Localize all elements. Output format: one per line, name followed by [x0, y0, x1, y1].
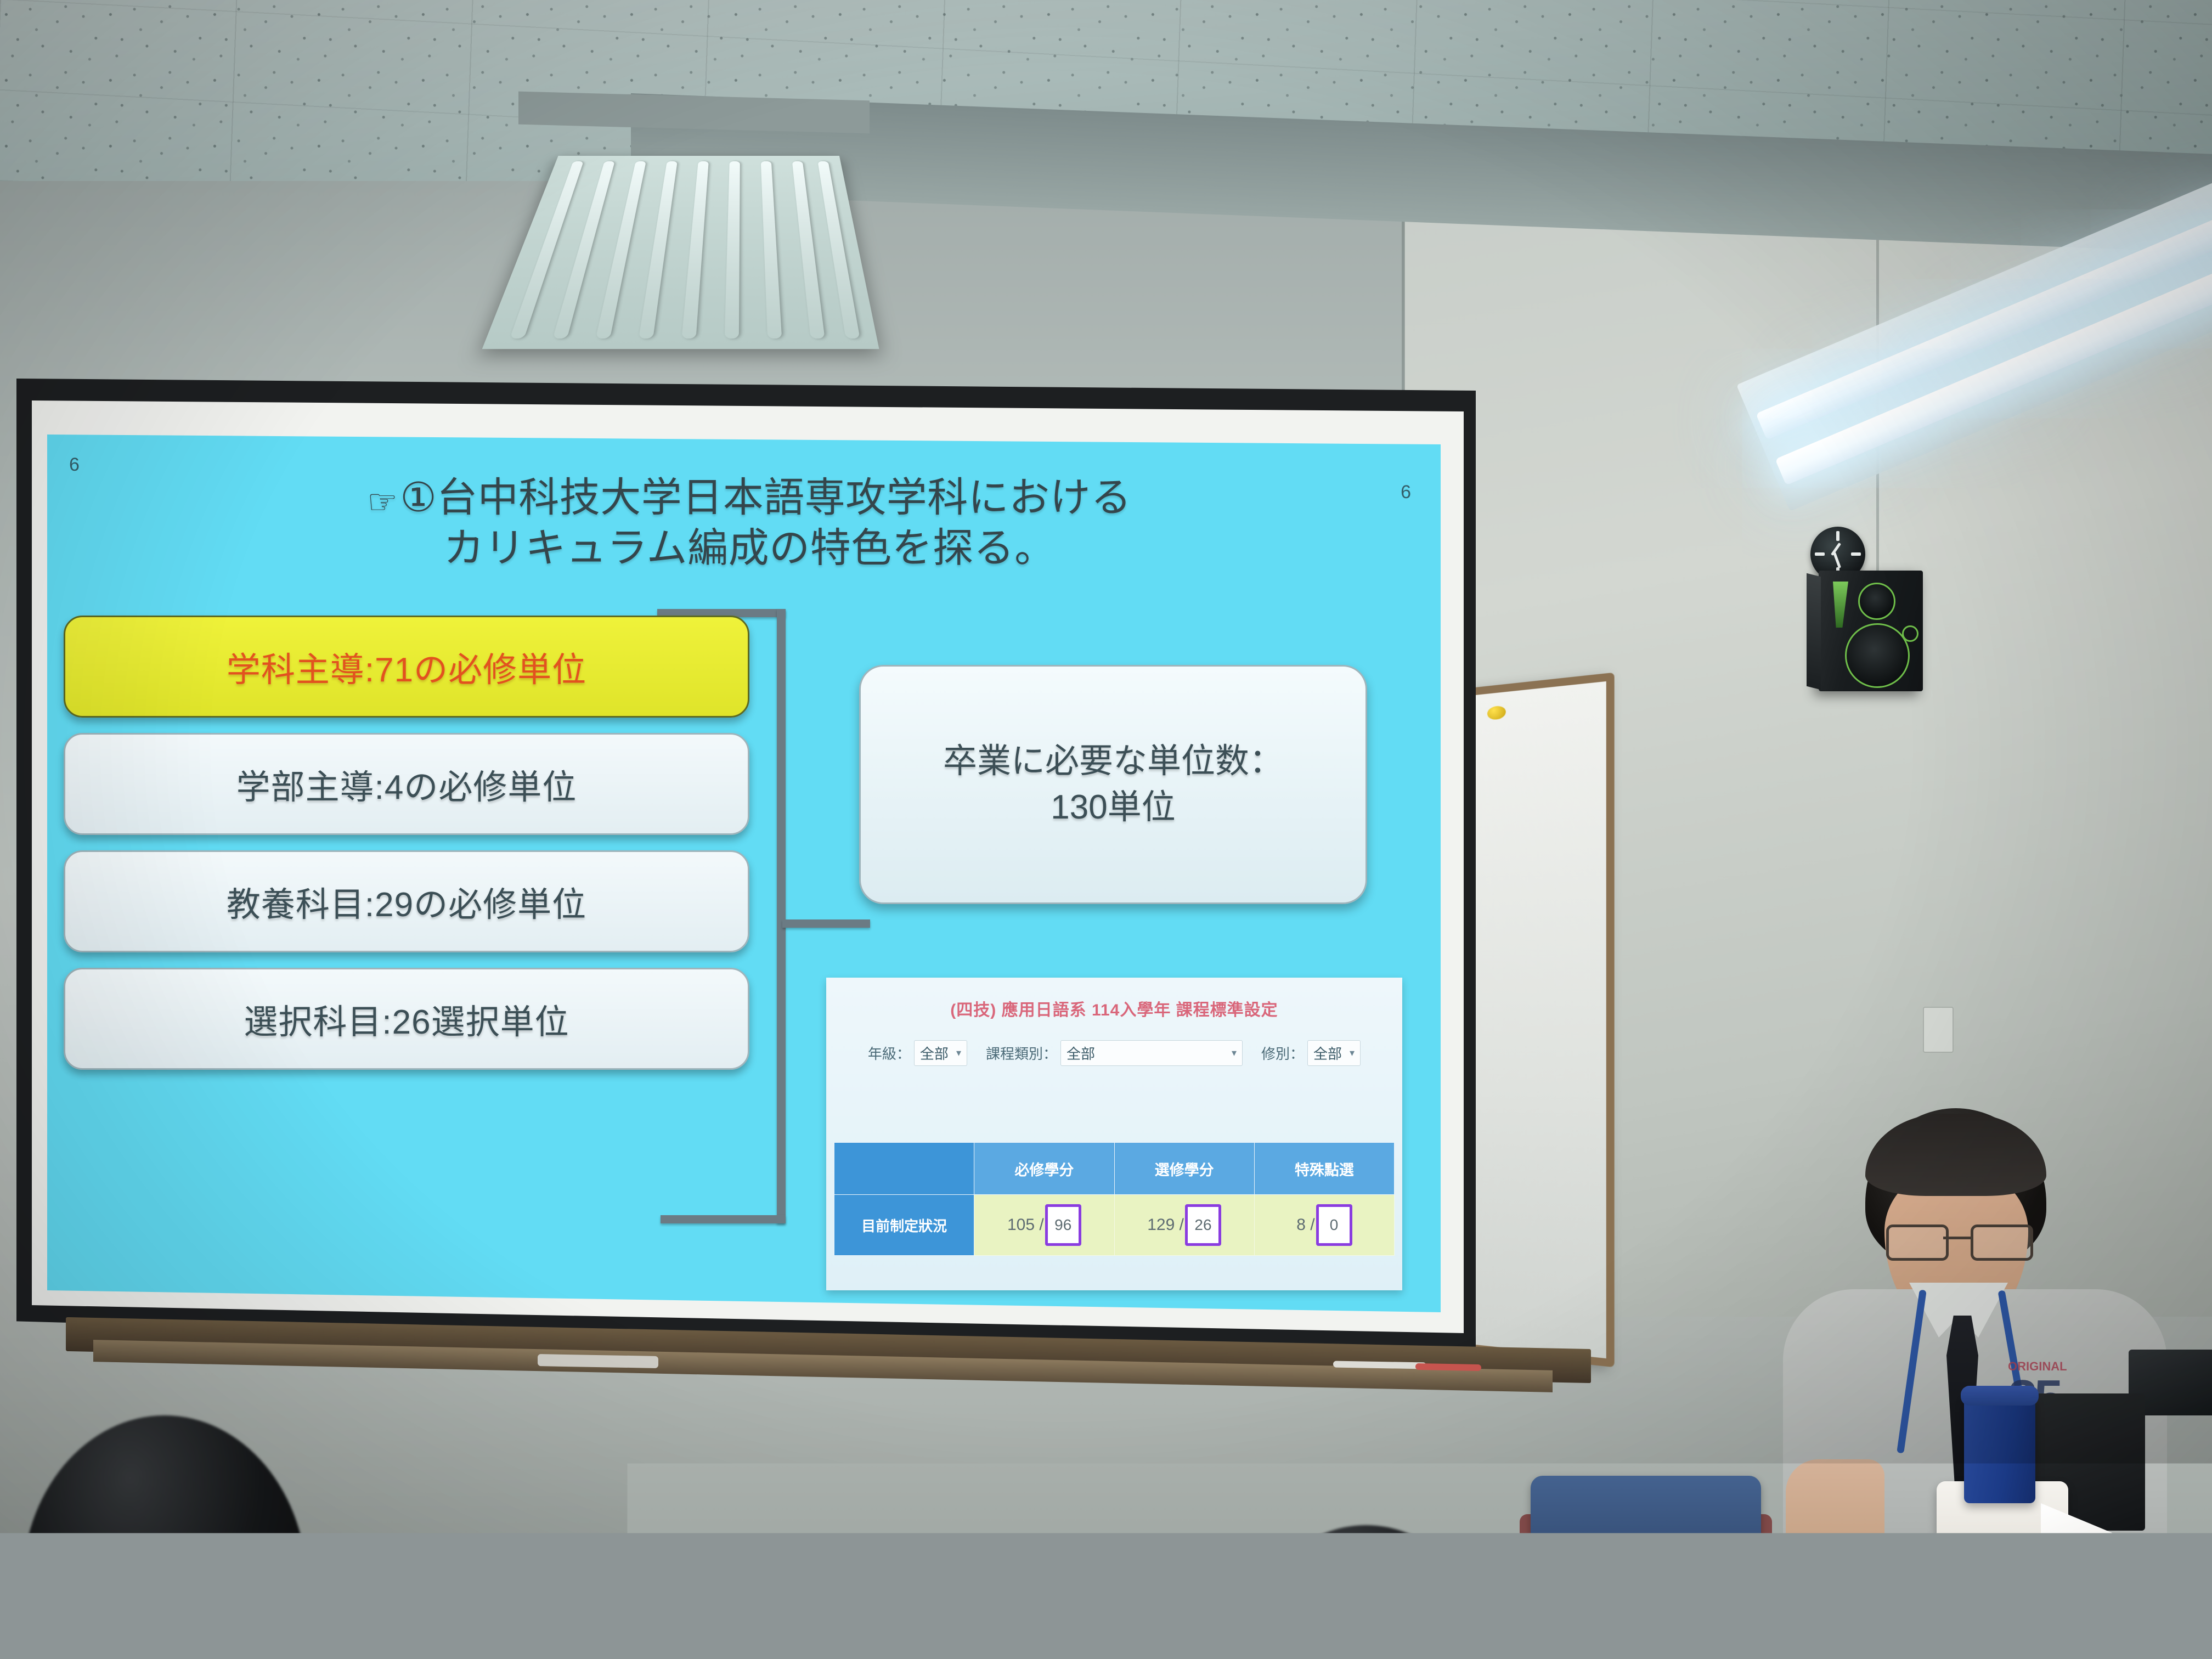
slide-number-right: 6	[1401, 482, 1411, 503]
required-total: 105 /	[1007, 1216, 1044, 1234]
blue-tumbler	[1964, 1393, 2035, 1503]
graduation-credits-box: 卒業に必要な単位数： 130単位	[859, 665, 1367, 904]
special-total: 8 /	[1296, 1216, 1314, 1234]
credit-box-label: 学部主導:4の必修単位	[236, 759, 577, 809]
lecture-room-photo: 6 6 ☞①台中科技大学日本語専攻学科における カリキュラム編成の特色を探る。 …	[0, 0, 2212, 1659]
special-select-input[interactable]: 0	[1316, 1204, 1352, 1246]
chevron-down-icon: ▾	[1350, 1047, 1355, 1059]
slide-title-line-2: カリキュラム編成の特色を探る。	[146, 523, 1353, 573]
speaker-woofer	[1845, 623, 1910, 688]
filter-grade: 年級： 全部 ▾	[868, 1040, 967, 1066]
filter-requirement-type: 修別： 全部 ▾	[1261, 1040, 1361, 1066]
wall-outlet-icon	[1923, 1007, 1954, 1053]
credit-box-label: 学科主導:71の必修単位	[227, 642, 586, 691]
graduation-credits-line-2: 130単位	[1051, 785, 1175, 831]
credit-box-faculty: 学部主導:4の必修単位	[64, 733, 749, 835]
person-hair-front	[1865, 1114, 2046, 1196]
credits-table: 必修學分 選修學分 特殊點選 目前制定狀況 105 / 96	[834, 1142, 1395, 1256]
table-cell-special: 8 / 0	[1254, 1195, 1394, 1256]
table-row-label: 目前制定狀況	[834, 1195, 974, 1256]
speaker-tweeter	[1858, 583, 1895, 620]
bracket-bottom-arm	[661, 1215, 786, 1223]
graduation-credits-line-1: 卒業に必要な単位数：	[943, 738, 1283, 785]
embedded-course-system-screenshot: (四技) 應用日語系 114入學年 課程標準設定 年級： 全部 ▾ 課程類別： …	[826, 978, 1402, 1290]
table-header-blank	[834, 1143, 974, 1195]
tumbler-cap	[1961, 1386, 2039, 1406]
elective-credits-input[interactable]: 26	[1185, 1204, 1221, 1246]
glasses-icon	[1886, 1224, 2028, 1255]
speaker-port	[1833, 582, 1848, 628]
speaker-side-panel	[1807, 573, 1821, 690]
microphone-icon	[2140, 1553, 2189, 1602]
table-header-special-select: 特殊點選	[1254, 1143, 1394, 1195]
projected-slide: 6 6 ☞①台中科技大学日本語専攻学科における カリキュラム編成の特色を探る。 …	[47, 435, 1441, 1312]
credit-box-column: 学科主導:71の必修単位 学部主導:4の必修単位 教養科目:29の必修単位 選択…	[64, 616, 749, 1085]
table-cell-required: 105 / 96	[974, 1195, 1114, 1256]
table-header-required-credits: 必修學分	[974, 1143, 1114, 1195]
chevron-down-icon: ▾	[1232, 1047, 1237, 1059]
chevron-down-icon: ▾	[956, 1047, 961, 1059]
required-credits-input[interactable]: 96	[1045, 1204, 1081, 1246]
credit-box-label: 教養科目:29の必修単位	[227, 877, 586, 926]
credit-box-elective: 選択科目:26選択単位	[64, 968, 749, 1070]
filter-course-type-value: 全部	[1066, 1043, 1095, 1063]
table-header-elective-credits: 選修學分	[1114, 1143, 1254, 1195]
filter-grade-select[interactable]: 全部 ▾	[914, 1040, 967, 1066]
table-header-row: 必修學分 選修學分 特殊點選	[834, 1143, 1395, 1195]
credit-box-general-education: 教養科目:29の必修単位	[64, 850, 749, 952]
yellow-magnet-icon	[1487, 705, 1506, 720]
whiteboard	[1465, 673, 1615, 1368]
filter-course-type-label: 課程類別：	[986, 1043, 1057, 1063]
person-arm	[1786, 1459, 1884, 1596]
credit-box-department: 学科主導:71の必修単位	[64, 616, 749, 718]
table-cell-elective: 129 / 26	[1114, 1195, 1254, 1256]
embedded-title: (四技) 應用日語系 114入學年 課程標準設定	[826, 996, 1402, 1020]
slide-number-left: 6	[69, 454, 80, 476]
filter-requirement-type-value: 全部	[1313, 1043, 1342, 1063]
filter-course-type-select[interactable]: 全部 ▾	[1060, 1040, 1243, 1066]
pointing-hand-icon: ☞	[367, 482, 398, 523]
filter-requirement-type-label: 修別：	[1261, 1043, 1304, 1063]
bracket-middle-arm	[782, 919, 870, 928]
marker	[1415, 1363, 1481, 1371]
bracket-vertical	[777, 609, 786, 1223]
eraser	[538, 1354, 658, 1368]
slide-title-line-1: ①台中科技大学日本語専攻学科における	[400, 475, 1131, 520]
filter-requirement-type-select[interactable]: 全部 ▾	[1307, 1040, 1361, 1066]
slide-title: ☞①台中科技大学日本語専攻学科における カリキュラム編成の特色を探る。	[146, 473, 1353, 573]
credit-box-label: 選択科目:26選択単位	[244, 994, 569, 1043]
speaker-knob	[1902, 625, 1918, 642]
filter-grade-value: 全部	[920, 1043, 949, 1063]
wall-speaker-icon	[1819, 571, 1923, 691]
table-row: 目前制定狀況 105 / 96 129 / 26	[834, 1195, 1395, 1256]
elective-total: 129 /	[1147, 1216, 1184, 1234]
filter-grade-label: 年級：	[868, 1043, 911, 1063]
embedded-filter-bar: 年級： 全部 ▾ 課程類別： 全部 ▾ 修別： 全部	[826, 1040, 1402, 1066]
filter-course-type: 課程類別： 全部 ▾	[986, 1040, 1243, 1066]
